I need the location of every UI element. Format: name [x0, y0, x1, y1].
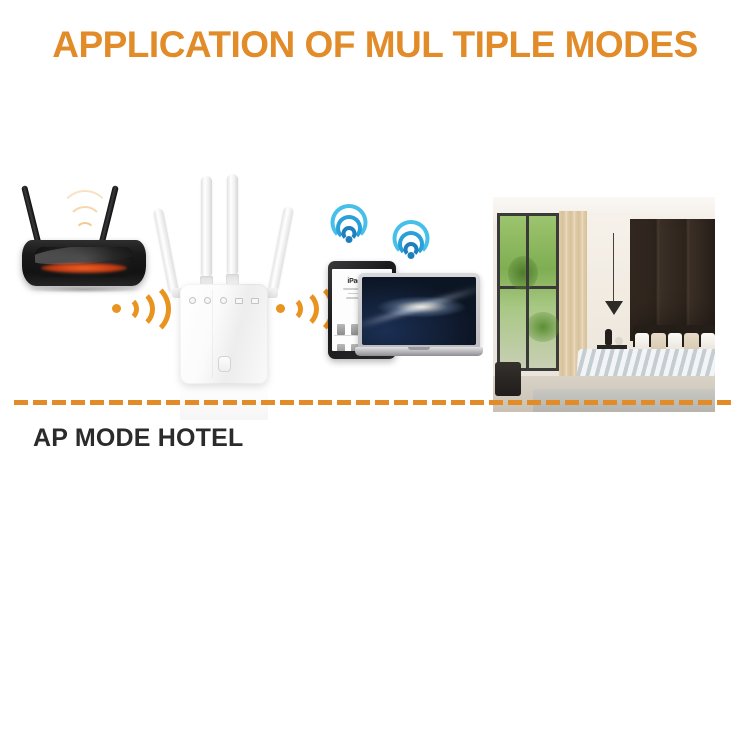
section-ap-mode-hotel: iPad mini	[0, 82, 750, 382]
hotel-room-photo	[493, 197, 715, 412]
extender-body	[180, 284, 268, 384]
router-inner-panel	[35, 247, 133, 277]
extender-antenna-vertical-right-icon	[227, 174, 238, 276]
laptop-wallpaper-streak	[362, 284, 476, 330]
extender-wps-button[interactable]	[218, 356, 231, 372]
pendant-lamp-icon	[605, 301, 623, 315]
laptop-screen	[362, 277, 476, 345]
led-wlan-icon	[251, 298, 259, 304]
infographic-page: APPLICATION OF MUL TIPLE MODES	[0, 0, 750, 750]
led-signal-icon	[220, 297, 227, 304]
dashed-divider	[14, 400, 736, 405]
signal-router-to-extender-icon	[112, 278, 158, 340]
wifi-range-extender-top	[158, 172, 290, 390]
client-devices-top: iPad mini	[318, 217, 486, 367]
led-power-icon	[189, 297, 196, 304]
laptop-lid	[358, 273, 480, 349]
laptop-wifi-signal-icon	[394, 233, 428, 259]
extender-led-indicators	[189, 296, 259, 305]
extender-antenna-vertical-left-icon	[201, 176, 212, 278]
laptop-device	[358, 273, 486, 361]
router-led-glow	[41, 263, 127, 273]
tablet-wifi-signal-icon	[332, 217, 366, 243]
led-lan-icon	[235, 298, 243, 304]
router-antenna-left-icon	[21, 185, 42, 247]
section-repeater-ap-office: iPad mini	[0, 432, 750, 732]
router-emission-waves-icon	[58, 194, 112, 242]
wood-panel-wall	[630, 219, 715, 341]
led-wps-icon	[204, 297, 211, 304]
page-title: APPLICATION OF MUL TIPLE MODES	[0, 24, 750, 66]
laptop-base	[355, 347, 483, 356]
signal-extender-to-clients-icon	[276, 278, 322, 340]
